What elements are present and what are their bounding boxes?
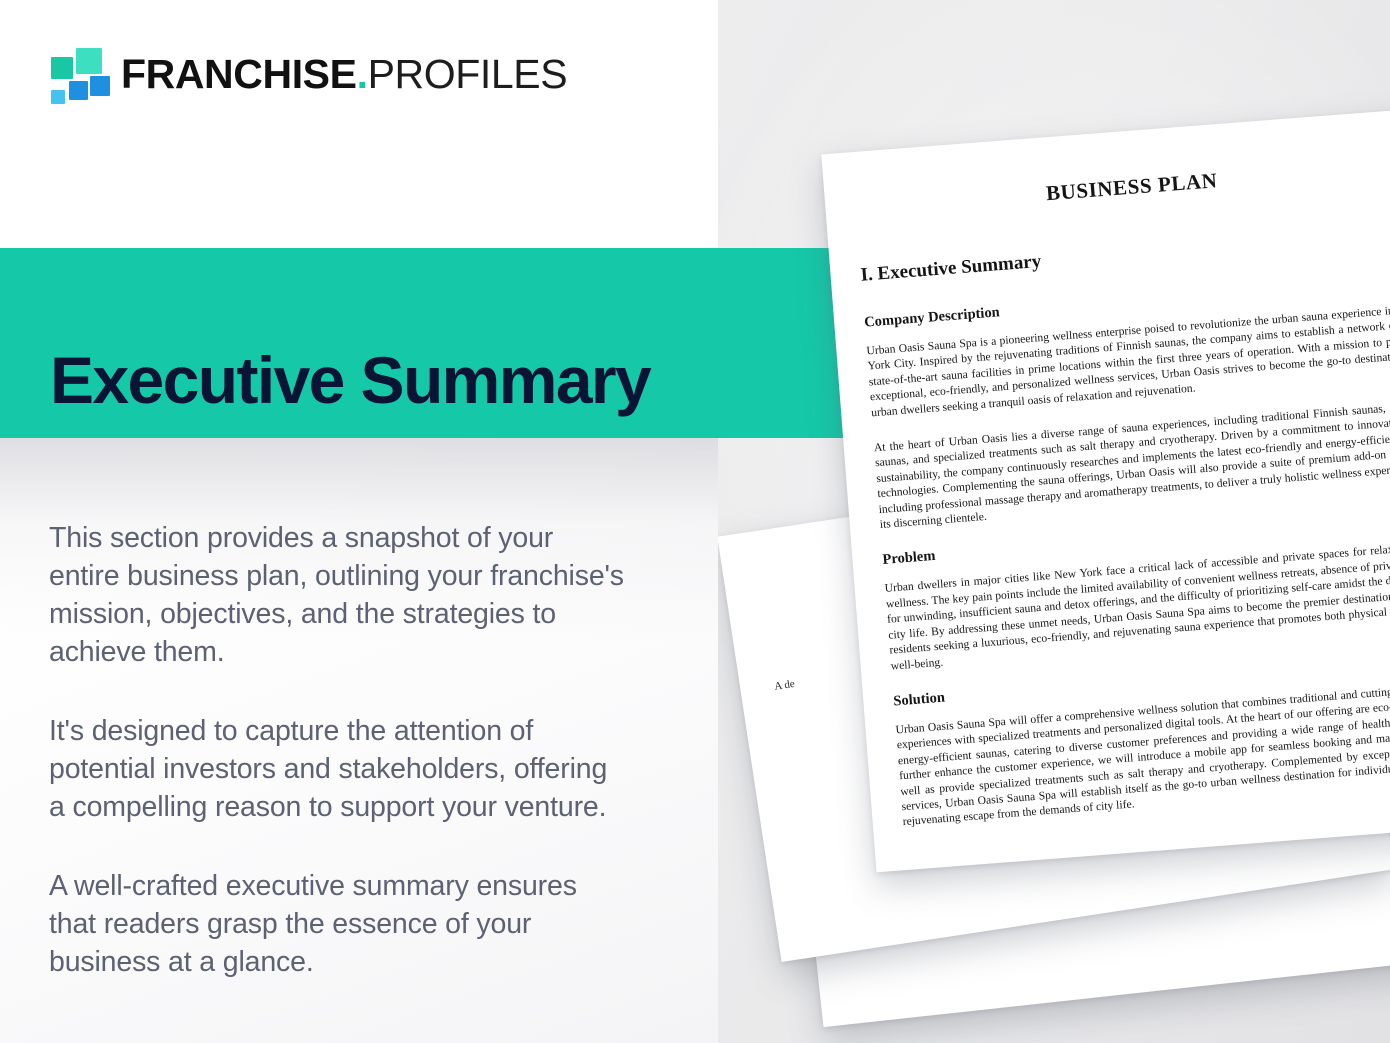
logo-square-teal-dark — [51, 57, 73, 79]
logo-square-teal-light — [76, 48, 102, 74]
document-paper-stack: an wellness ands of city life. A de BUSI… — [718, 0, 1390, 1043]
logo-squares-icon — [45, 45, 107, 103]
document-subsection-solution: Solution Urban Oasis Sauna Spa will offe… — [893, 651, 1390, 830]
document-subsection-company-description: Company Description Urban Oasis Sauna Sp… — [864, 272, 1390, 532]
brand-logo[interactable]: FRANCHISE.PROFILES — [45, 43, 567, 105]
document-title: BUSINESS PLAN — [855, 154, 1390, 221]
logo-wordmark: FRANCHISE.PROFILES — [121, 54, 567, 95]
logo-square-cyan-small — [51, 90, 65, 104]
body-paragraph-1: This section provides a snapshot of your… — [49, 519, 629, 671]
logo-square-blue-mid — [69, 81, 88, 100]
document-section-heading: I. Executive Summary — [860, 222, 1390, 286]
body-copy-block: This section provides a snapshot of your… — [49, 519, 629, 981]
document-content: BUSINESS PLAN I. Executive Summary Compa… — [821, 108, 1390, 872]
logo-square-blue-right — [90, 76, 110, 96]
logo-word-profiles: PROFILES — [368, 51, 568, 97]
page-title: Executive Summary — [50, 346, 650, 415]
subsection-paragraph: At the heart of Urban Oasis lies a diver… — [873, 398, 1390, 533]
document-subsection-problem: Problem Urban dwellers in major cities l… — [882, 510, 1390, 674]
body-paragraph-3: A well-crafted executive summary ensures… — [49, 867, 629, 981]
logo-separator-dot: . — [357, 51, 368, 97]
body-paragraph-2: It's designed to capture the attention o… — [49, 712, 629, 826]
paper-sheet-front: BUSINESS PLAN I. Executive Summary Compa… — [821, 108, 1390, 873]
logo-word-franchise: FRANCHISE — [121, 51, 357, 97]
slide-root: FRANCHISE.PROFILES Executive Summary Thi… — [0, 0, 1390, 1043]
